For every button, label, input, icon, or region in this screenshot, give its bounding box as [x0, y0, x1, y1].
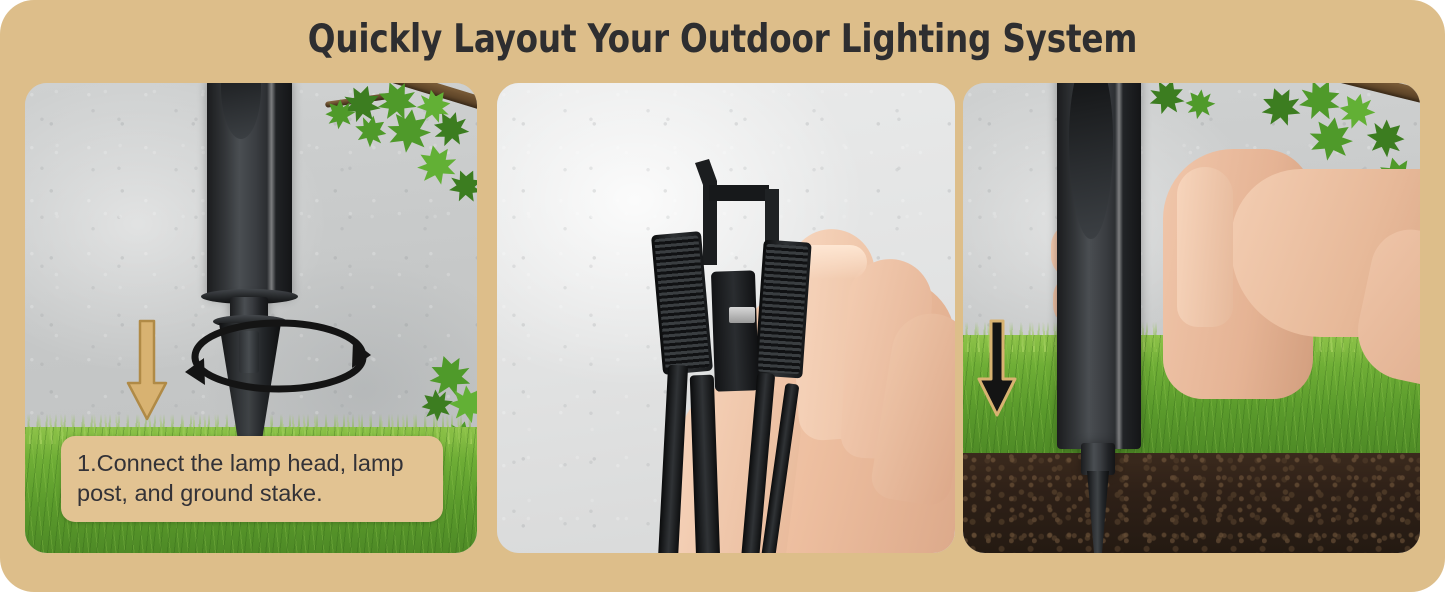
lamp-post	[1057, 83, 1141, 449]
step-1-caption: 1.Connect the lamp head, lamp post, and …	[61, 436, 443, 522]
infographic-frame: Quickly Layout Your Outdoor Lighting Sys…	[0, 0, 1445, 592]
post-neck	[1081, 443, 1115, 475]
down-arrow-icon	[125, 319, 169, 424]
lamp-post	[207, 83, 292, 299]
connector-body	[711, 270, 759, 391]
connector-clamp-right	[754, 239, 811, 378]
page-title: Quickly Layout Your Outdoor Lighting Sys…	[51, 17, 1395, 62]
step-panel-2: 2. Use a quick connector to connect to y…	[497, 83, 955, 553]
step-panel-1: 1.Connect the lamp head, lamp post, and …	[25, 83, 477, 553]
rotation-arrows-icon	[167, 313, 389, 399]
connector-contacts	[729, 307, 755, 323]
soil-cross-section	[963, 453, 1420, 553]
step-panel-3: 3. Insert the target area to complete th…	[963, 83, 1420, 553]
down-arrow-icon	[975, 319, 1019, 419]
